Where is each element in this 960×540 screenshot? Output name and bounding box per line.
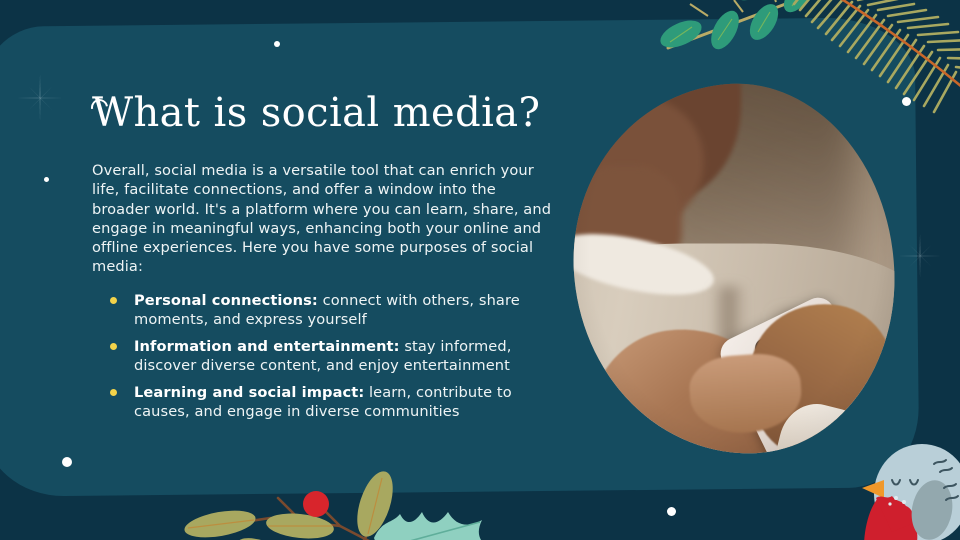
bullet-dot-icon [110, 343, 117, 350]
decorative-dot [44, 177, 49, 182]
text-content-column: What is social media? Overall, social me… [92, 92, 554, 429]
photo-person-with-phone [565, 76, 904, 462]
title-swash-letter: W [92, 92, 134, 135]
list-item-term: Learning and social impact: [134, 384, 364, 401]
list-item: Information and entertainment: stay info… [110, 337, 554, 376]
title-rest: hat is social media? [134, 90, 541, 136]
bullet-dot-icon [110, 389, 117, 396]
slide-canvas: What is social media? Overall, social me… [0, 0, 960, 540]
robin-bird-icon [856, 436, 960, 540]
list-item: Personal connections: connect with other… [110, 291, 554, 330]
body-paragraph: Overall, social media is a versatile too… [92, 161, 554, 277]
list-item-term: Personal connections: [134, 292, 318, 309]
bullet-dot-icon [110, 297, 117, 304]
page-title: What is social media? [92, 92, 554, 135]
purposes-list: Personal connections: connect with other… [92, 291, 554, 422]
decorative-dot [274, 41, 280, 47]
decorative-dot [62, 457, 72, 467]
list-item: Learning and social impact: learn, contr… [110, 383, 554, 422]
list-item-term: Information and entertainment: [134, 338, 400, 355]
decorative-dot [902, 97, 911, 106]
decorative-dot [667, 507, 676, 516]
